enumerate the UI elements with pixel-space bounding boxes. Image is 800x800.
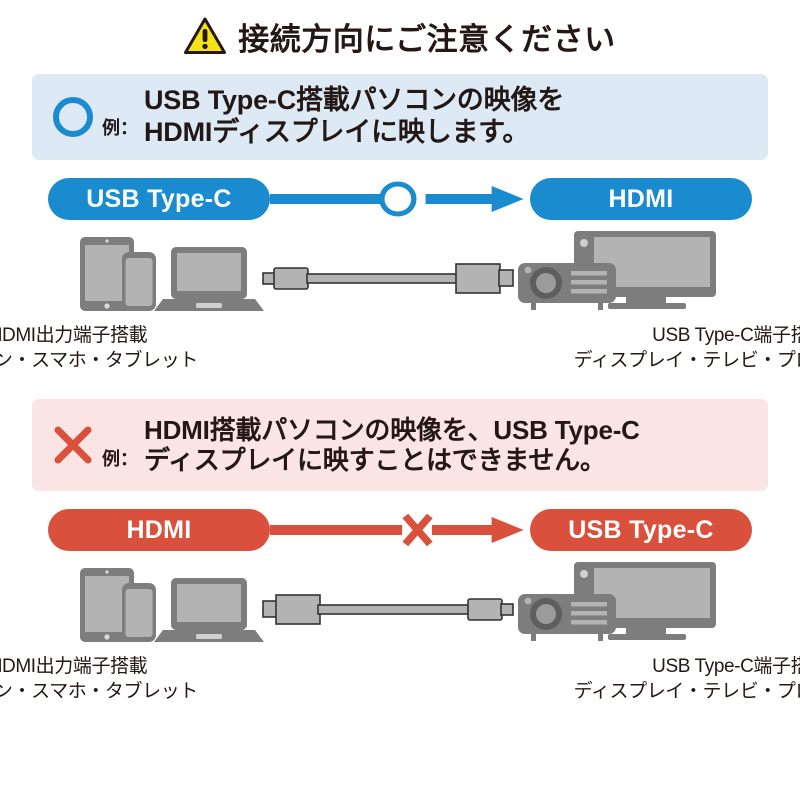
ng-right-caption-line-2: ディスプレイ・テレビ・プロジェクター (540, 680, 800, 705)
ok-left-devices (78, 233, 268, 318)
circle-ok-icon (46, 94, 100, 140)
ok-rei-label: 例： (102, 114, 138, 150)
ng-devices-row (0, 559, 800, 649)
ok-callout-line-1: USB Type-C搭載パソコンの映像を (144, 85, 564, 117)
ok-left-caption-line-1: HDMI出力端子搭載 (0, 324, 268, 349)
cross-ng-icon (46, 421, 100, 469)
ok-left-caption: HDMI出力端子搭載 パソコン・スマホ・タブレット (0, 324, 268, 373)
hdmi-to-usbc-cable-icon (262, 592, 514, 631)
ok-captions: HDMI出力端子搭載 パソコン・スマホ・タブレット USB Type-C端子搭載… (0, 324, 800, 373)
ng-flow-target-pill: USB Type-C (530, 509, 752, 551)
page-title: 接続方向にご注意ください (238, 14, 615, 59)
ng-right-caption: USB Type-C端子搭載 ディスプレイ・テレビ・プロジェクター (540, 655, 800, 704)
ok-flow-source-pill: USB Type-C (48, 178, 270, 220)
ng-callout-text: HDMI搭載パソコンの映像を、USB Type-C ディスプレイに映すことはでき… (144, 415, 640, 476)
ng-callout-line-1: HDMI搭載パソコンの映像を、USB Type-C (144, 415, 640, 446)
ok-callout-text: USB Type-C搭載パソコンの映像を HDMIディスプレイに映します。 (144, 85, 564, 149)
ok-callout-box: 例： USB Type-C搭載パソコンの映像を HDMIディスプレイに映します。 (32, 74, 768, 160)
ok-flow-diagram: USB Type-C HDMI (48, 178, 752, 220)
ok-right-caption-line-1: USB Type-C端子搭載 (540, 324, 800, 349)
ng-right-devices (516, 560, 721, 649)
ok-right-caption: USB Type-C端子搭載 ディスプレイ・テレビ・プロジェクター (540, 324, 800, 373)
ng-callout-line-2: ディスプレイに映すことはできません。 (144, 445, 640, 476)
ok-right-caption-line-2: ディスプレイ・テレビ・プロジェクター (540, 349, 800, 374)
ok-left-caption-line-2: パソコン・スマホ・タブレット (0, 349, 268, 374)
smartphone-icon (122, 252, 156, 311)
ng-left-caption-line-2: パソコン・スマホ・タブレット (0, 680, 268, 705)
page-header: 接続方向にご注意ください (0, 0, 800, 66)
ng-left-caption-line-1: HDMI出力端子搭載 (0, 655, 268, 680)
ng-flow-source-pill: HDMI (48, 509, 270, 551)
ng-rei-label: 例： (102, 445, 138, 481)
ng-callout-box: 例： HDMI搭載パソコンの映像を、USB Type-C ディスプレイに映すこと… (32, 399, 768, 491)
ng-captions: HDMI出力端子搭載 パソコン・スマホ・タブレット USB Type-C端子搭載… (0, 655, 800, 704)
ok-flow-arrow (270, 178, 530, 220)
ng-flow-diagram: HDMI USB Type-C (48, 509, 752, 551)
usbc-to-hdmi-cable-icon (262, 261, 514, 300)
smartphone-icon (122, 583, 156, 642)
warning-triangle-icon (184, 17, 226, 55)
ng-flow-arrow (270, 509, 530, 551)
projector-icon (518, 263, 616, 310)
ok-flow-target-pill: HDMI (530, 178, 752, 220)
ng-left-devices (78, 564, 268, 649)
ng-left-caption: HDMI出力端子搭載 パソコン・スマホ・タブレット (0, 655, 268, 704)
projector-icon (518, 594, 616, 641)
laptop-icon (154, 578, 264, 642)
ok-callout-line-2: HDMIディスプレイに映します。 (144, 117, 564, 149)
ok-right-devices (516, 229, 721, 318)
ng-right-caption-line-1: USB Type-C端子搭載 (540, 655, 800, 680)
ok-devices-row (0, 228, 800, 318)
laptop-icon (154, 247, 264, 311)
